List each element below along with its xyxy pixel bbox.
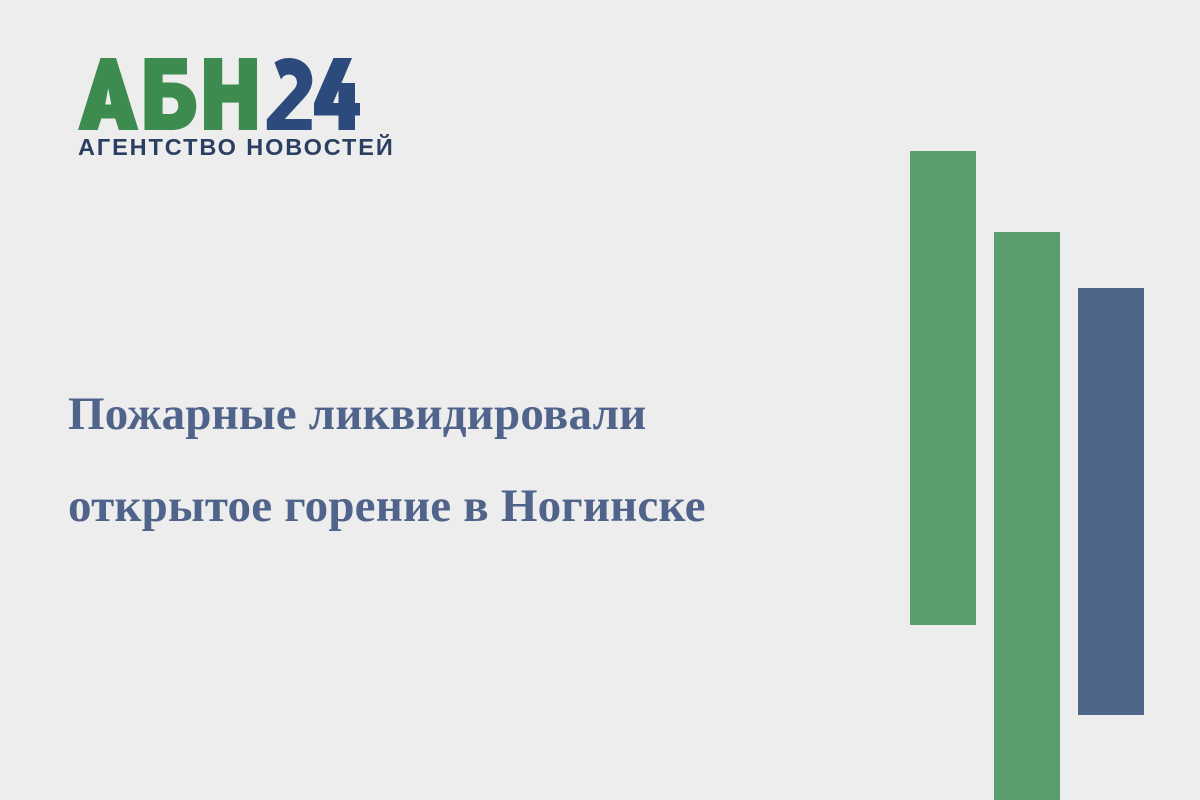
- page-title: Пожарные ликвидировали открытое горение …: [68, 368, 868, 552]
- headline-line-1: Пожарные ликвидировали: [68, 368, 868, 460]
- logo-digit-two: [267, 58, 312, 130]
- abn24-logo: АГЕНТСТВО НОВОСТЕЙ: [78, 58, 378, 160]
- headline-line-2: открытое горение в Ногинске: [68, 460, 868, 552]
- bar-1: [910, 151, 976, 625]
- news-card: АГЕНТСТВО НОВОСТЕЙ Пожарные ликвидировал…: [0, 0, 1200, 800]
- abn24-logo-mark: [78, 58, 360, 130]
- bar-3: [1078, 288, 1144, 715]
- logo-letter-en: [204, 58, 257, 130]
- logo-digit-four: [314, 58, 360, 130]
- logo-tagline: АГЕНТСТВО НОВОСТЕЙ: [78, 136, 378, 160]
- bar-2: [994, 232, 1060, 800]
- logo-letter-a: [78, 58, 139, 130]
- logo-letter-be: [145, 58, 197, 130]
